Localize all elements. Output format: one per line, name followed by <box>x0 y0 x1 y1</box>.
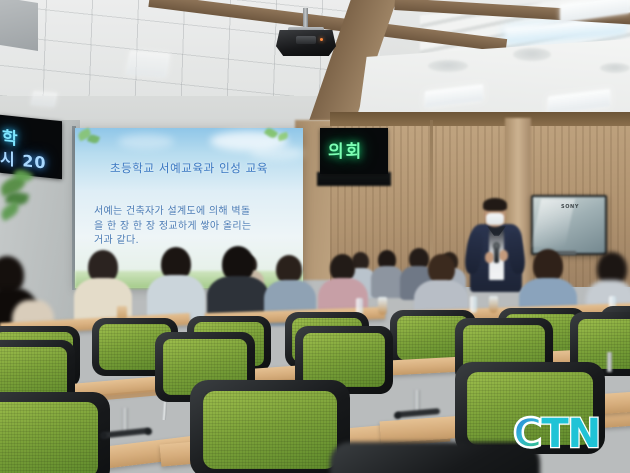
chair-mesh-back <box>203 391 337 469</box>
ceiling-recessed-light <box>600 63 630 73</box>
speaker-hand-left <box>485 252 494 263</box>
speaker-face-mask <box>486 213 504 225</box>
slide-body-line-3: 거과 같다. <box>94 234 286 249</box>
slide-body-line-1: 서예는 건축자가 설계도에 의해 벽돌 <box>94 205 286 220</box>
chair-caster <box>394 412 401 419</box>
led-sign-left: 학 시 20 <box>0 115 62 180</box>
wood-wall-top-trim <box>330 112 630 126</box>
ctn-letters-tn: TN <box>541 411 600 457</box>
chair-base <box>396 408 440 418</box>
ceiling-panel-light <box>31 91 58 107</box>
ctn-letter-c: C <box>513 411 541 457</box>
led-sign-right-text: 의회 <box>328 137 363 162</box>
tv-brand-label: SONY <box>561 204 579 210</box>
speaker-hair <box>483 198 507 211</box>
chair-caster <box>145 428 152 435</box>
projector-lens <box>296 36 316 44</box>
ceiling-recessed-light <box>428 60 468 72</box>
chair-mesh-back <box>0 402 98 473</box>
chair-caster <box>100 432 107 439</box>
iced-coffee-cup <box>489 296 498 313</box>
slide-body: 서예는 건축자가 설계도에 의해 벽돌 을 한 장 한 장 정교하게 쌓아 올리… <box>94 205 286 249</box>
ctn-watermark: CTN <box>513 414 600 454</box>
chair-frame <box>330 442 540 473</box>
slide-cloud <box>250 146 304 160</box>
slide-title: 초등학교 서예교육과 인성 교육 <box>75 160 303 176</box>
slide-cloud <box>118 134 174 149</box>
iced-coffee-cup <box>378 297 387 315</box>
ceiling-recessed-light <box>513 48 551 61</box>
water-bottle <box>470 296 477 313</box>
lecture-hall-photo: SONY 학 시 20 의회 초등학교 서예교육과 인성 교육 서예는 건축자가… <box>0 0 630 473</box>
microphone-head <box>493 242 500 249</box>
ceiling-corner-shadow <box>0 0 38 51</box>
slide-body-line-2: 을 한 장 한 장 정교하게 쌓아 올리는 <box>94 220 286 235</box>
led-sign-right-frame <box>317 172 391 186</box>
speaker-hand-right <box>499 250 508 261</box>
ceiling-panel-light <box>126 51 170 78</box>
chair-post <box>607 352 612 372</box>
projector-status-led <box>320 38 323 41</box>
chair-mesh-back <box>303 333 385 387</box>
led-sign-right: 의회 <box>320 128 388 174</box>
